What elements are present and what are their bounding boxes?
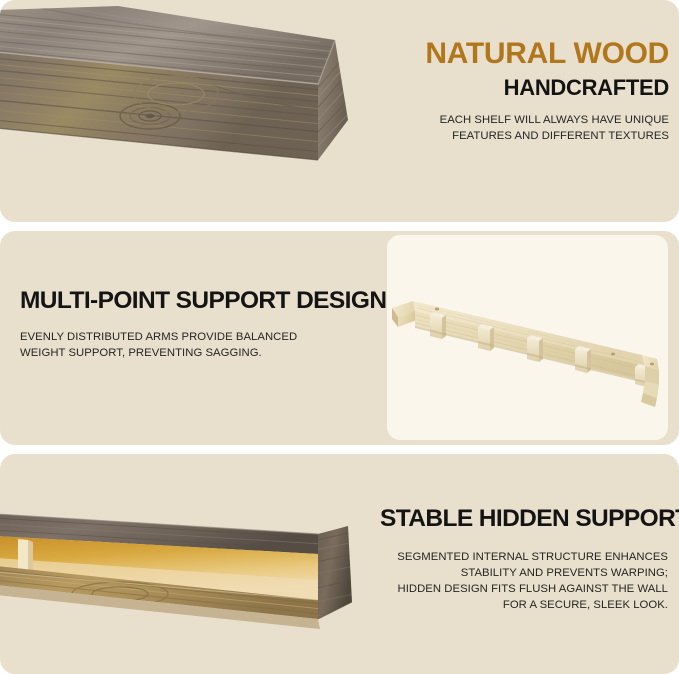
- panel-2-body-line: EVENLY DISTRIBUTED ARMS PROVIDE BALANCED: [20, 329, 360, 345]
- product-infographic: NATURAL WOOD HANDCRAFTED EACH SHELF WILL…: [0, 0, 679, 674]
- panel-1-body: EACH SHELF WILL ALWAYS HAVE UNIQUE FEATU…: [369, 112, 669, 144]
- panel-3-text-block: STABLE HIDDEN SUPPORT SEGMENTED INTERNAL…: [380, 505, 668, 613]
- heading-multi-point-support: MULTI-POINT SUPPORT DESIGN: [20, 287, 360, 315]
- screw-hole: [611, 353, 615, 356]
- panel-3-body-line: FOR A SECURE, SLEEK LOOK.: [380, 597, 668, 613]
- hidden-support-shelf-image: [0, 454, 392, 674]
- panel-natural-wood: NATURAL WOOD HANDCRAFTED EACH SHELF WILL…: [0, 0, 679, 222]
- panel-1-text-block: NATURAL WOOD HANDCRAFTED EACH SHELF WILL…: [369, 38, 669, 144]
- panel-2-body: EVENLY DISTRIBUTED ARMS PROVIDE BALANCED…: [20, 329, 360, 361]
- panel-2-text-block: MULTI-POINT SUPPORT DESIGN EVENLY DISTRI…: [20, 287, 360, 361]
- support-bracket-image: [387, 235, 668, 440]
- wood-plank-image: [0, 0, 378, 222]
- panel-2-body-line: WEIGHT SUPPORT, PREVENTING SAGGING.: [20, 345, 360, 361]
- bracket-image-card: [387, 235, 668, 440]
- panel-3-body: SEGMENTED INTERNAL STRUCTURE ENHANCES ST…: [380, 549, 668, 613]
- panel-stable-hidden-support: STABLE HIDDEN SUPPORT SEGMENTED INTERNAL…: [0, 454, 679, 674]
- panel-3-body-line: SEGMENTED INTERNAL STRUCTURE ENHANCES: [380, 549, 668, 565]
- panel-3-body-line: HIDDEN DESIGN FITS FLUSH AGAINST THE WAL…: [380, 581, 668, 597]
- panel-1-body-line: EACH SHELF WILL ALWAYS HAVE UNIQUE: [369, 112, 669, 128]
- panel-3-body-line: STABILITY AND PREVENTS WARPING;: [380, 565, 668, 581]
- panel-multi-point-support: MULTI-POINT SUPPORT DESIGN EVENLY DISTRI…: [0, 231, 679, 445]
- heading-stable-hidden-support: STABLE HIDDEN SUPPORT: [380, 505, 668, 533]
- heading-handcrafted: HANDCRAFTED: [369, 76, 669, 99]
- screw-hole: [435, 308, 439, 311]
- screw-hole: [650, 363, 654, 366]
- heading-natural-wood: NATURAL WOOD: [369, 38, 669, 70]
- panel-1-body-line: FEATURES AND DIFFERENT TEXTURES: [369, 128, 669, 144]
